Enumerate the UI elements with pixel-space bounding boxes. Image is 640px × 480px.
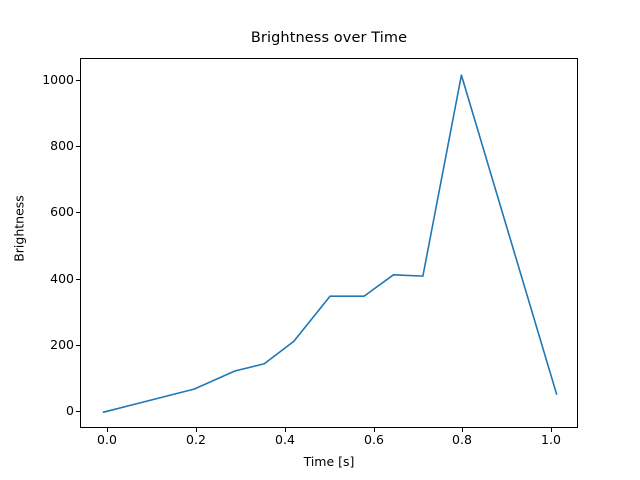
y-tick-label: 1000 [42, 74, 74, 87]
y-tick-mark [76, 411, 80, 412]
y-axis-tick-labels: 0 200 400 600 800 1000 [20, 0, 74, 480]
y-tick-mark [76, 146, 80, 147]
matplotlib-figure: Brightness over Time 0 200 400 600 800 1… [0, 0, 640, 480]
y-axis-label: Brightness [12, 169, 27, 289]
line-chart-svg [81, 59, 579, 429]
plot-area [80, 58, 578, 428]
data-series-line [103, 75, 556, 412]
x-tick-label: 0.2 [166, 434, 226, 447]
x-tick-label: 0.6 [344, 434, 404, 447]
y-tick-label: 800 [50, 140, 74, 153]
x-tick-label: 0.0 [77, 434, 137, 447]
y-tick-label: 600 [50, 206, 74, 219]
y-tick-label: 400 [50, 273, 74, 286]
x-tick-label: 1.0 [521, 434, 581, 447]
y-tick-label: 200 [50, 339, 74, 352]
x-tick-label: 0.4 [255, 434, 315, 447]
x-tick-label: 0.8 [432, 434, 492, 447]
page-title: Brightness over Time [80, 30, 578, 46]
y-tick-mark [76, 279, 80, 280]
y-tick-mark [76, 345, 80, 346]
y-tick-mark [76, 212, 80, 213]
y-tick-mark [76, 80, 80, 81]
y-tick-label: 0 [66, 405, 74, 418]
x-axis-label: Time [s] [80, 454, 578, 469]
